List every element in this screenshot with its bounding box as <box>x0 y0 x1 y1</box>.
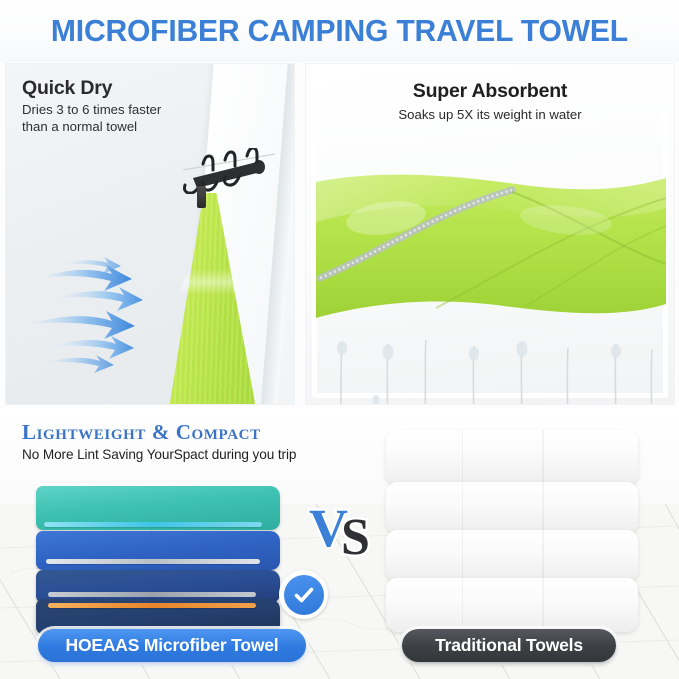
check-icon <box>292 583 316 607</box>
label-hoeaas-microfiber-towel: HOEAAS Microfiber Towel <box>38 629 306 662</box>
stack-layer-royal-blue <box>36 531 280 570</box>
traditional-towel-stack <box>386 430 638 638</box>
water-drips-icon <box>316 340 666 404</box>
check-badge-inner <box>284 575 324 615</box>
check-badge <box>279 570 328 619</box>
twisted-towel-icon <box>316 168 666 358</box>
lightweight-subtitle: No More Lint Saving YourSpact during you… <box>22 447 352 462</box>
airflow-arrows-icon <box>20 242 205 402</box>
quick-dry-subtitle-line2: than a normal towel <box>22 119 237 136</box>
super-absorbent-text-block: Super Absorbent Soaks up 5X its weight i… <box>306 80 674 122</box>
header-banner: MICROFIBER CAMPING TRAVEL TOWEL <box>0 0 679 62</box>
white-towel-layer <box>386 578 638 632</box>
page-title: MICROFIBER CAMPING TRAVEL TOWEL <box>51 13 628 49</box>
stack-zipper-orange <box>48 603 256 608</box>
super-absorbent-heading: Super Absorbent <box>306 80 674 103</box>
white-towel-layer <box>386 530 638 582</box>
microfiber-towel-stack <box>36 486 280 636</box>
stack-zipper-grey <box>48 592 256 597</box>
vs-letter-s: S <box>341 509 370 560</box>
quick-dry-heading: Quick Dry <box>22 78 237 99</box>
stack-zipper-cyan <box>44 522 262 527</box>
vs-label: V S <box>307 498 385 560</box>
quick-dry-text-block: Quick Dry Dries 3 to 6 times faster than… <box>22 78 237 136</box>
quick-dry-subtitle-line1: Dries 3 to 6 times faster <box>22 102 237 119</box>
white-towel-layer <box>386 430 638 486</box>
lightweight-heading: Lightweight & Compact <box>22 420 352 445</box>
super-absorbent-subtitle: Soaks up 5X its weight in water <box>306 107 674 122</box>
white-towel-layer <box>386 482 638 534</box>
stack-zipper-silver <box>46 559 260 564</box>
panel-super-absorbent: Super Absorbent Soaks up 5X its weight i… <box>306 64 674 404</box>
lightweight-text-block: Lightweight & Compact No More Lint Savin… <box>22 420 352 462</box>
panel-quick-dry: Quick Dry Dries 3 to 6 times faster than… <box>6 64 294 404</box>
product-infographic: MICROFIBER CAMPING TRAVEL TOWEL Quick Dr… <box>0 0 679 679</box>
label-traditional-towels: Traditional Towels <box>402 629 616 662</box>
panel-lightweight-compact: Lightweight & Compact No More Lint Savin… <box>0 408 679 679</box>
towel-clip-icon <box>197 186 206 208</box>
